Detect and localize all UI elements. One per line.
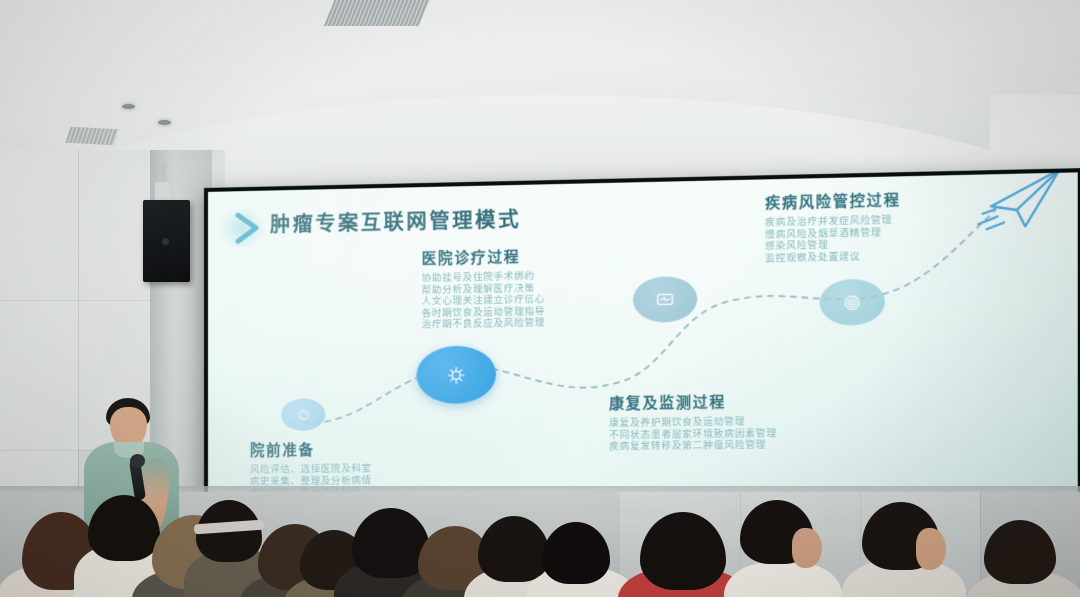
monitor-screen-icon bbox=[655, 291, 676, 309]
section-disease-risk-control: 疾病风险管控过程 疾病及治疗并发症风险管理 慢病风险及烟草酒精管理 感染风险管理… bbox=[765, 189, 901, 264]
section-hospital-diagnosis: 医院诊疗过程 协助挂号及住院手术绑约 帮助分析及理解医疗决策 人文心理关注建立诊… bbox=[422, 245, 546, 330]
wall-tile bbox=[0, 300, 79, 451]
section-heading: 康复及监测过程 bbox=[609, 390, 777, 414]
ceiling-air-vent-secondary bbox=[65, 127, 118, 146]
wall-speaker bbox=[143, 200, 190, 282]
recessed-downlight bbox=[122, 104, 135, 109]
section-line: 治疗期不良反应及风险管理 bbox=[422, 317, 546, 331]
screenshot-root: 肿瘤专案互联网管理模式 bbox=[0, 0, 1080, 597]
paper-plane-icon bbox=[976, 172, 1068, 237]
wall-tile bbox=[0, 150, 79, 301]
projection-screen: 肿瘤专案互联网管理模式 bbox=[208, 172, 1078, 510]
speaker-ceiling-stub bbox=[158, 164, 166, 184]
section-heading: 院前准备 bbox=[250, 438, 372, 460]
virus-gear-icon bbox=[445, 364, 467, 387]
section-line: 疾病复发转移及第二肿瘤风险管理 bbox=[609, 438, 777, 452]
dot-node-icon bbox=[295, 406, 312, 423]
section-line: 监控观察及处置建议 bbox=[765, 249, 901, 264]
section-heading: 医院诊疗过程 bbox=[422, 245, 546, 269]
section-rehab-monitoring: 康复及监测过程 康复及养护期饮食及运动管理 不同状态患者居家环境致病因素管理 疾… bbox=[609, 390, 777, 452]
projection-screen-frame: 肿瘤专案互联网管理模式 bbox=[204, 168, 1080, 514]
audience-face bbox=[916, 528, 946, 570]
audience-face bbox=[792, 528, 822, 568]
section-heading: 疾病风险管控过程 bbox=[765, 189, 901, 213]
ceiling-air-vent bbox=[324, 0, 431, 26]
target-rings-icon bbox=[842, 292, 863, 313]
recessed-downlight bbox=[158, 120, 171, 125]
